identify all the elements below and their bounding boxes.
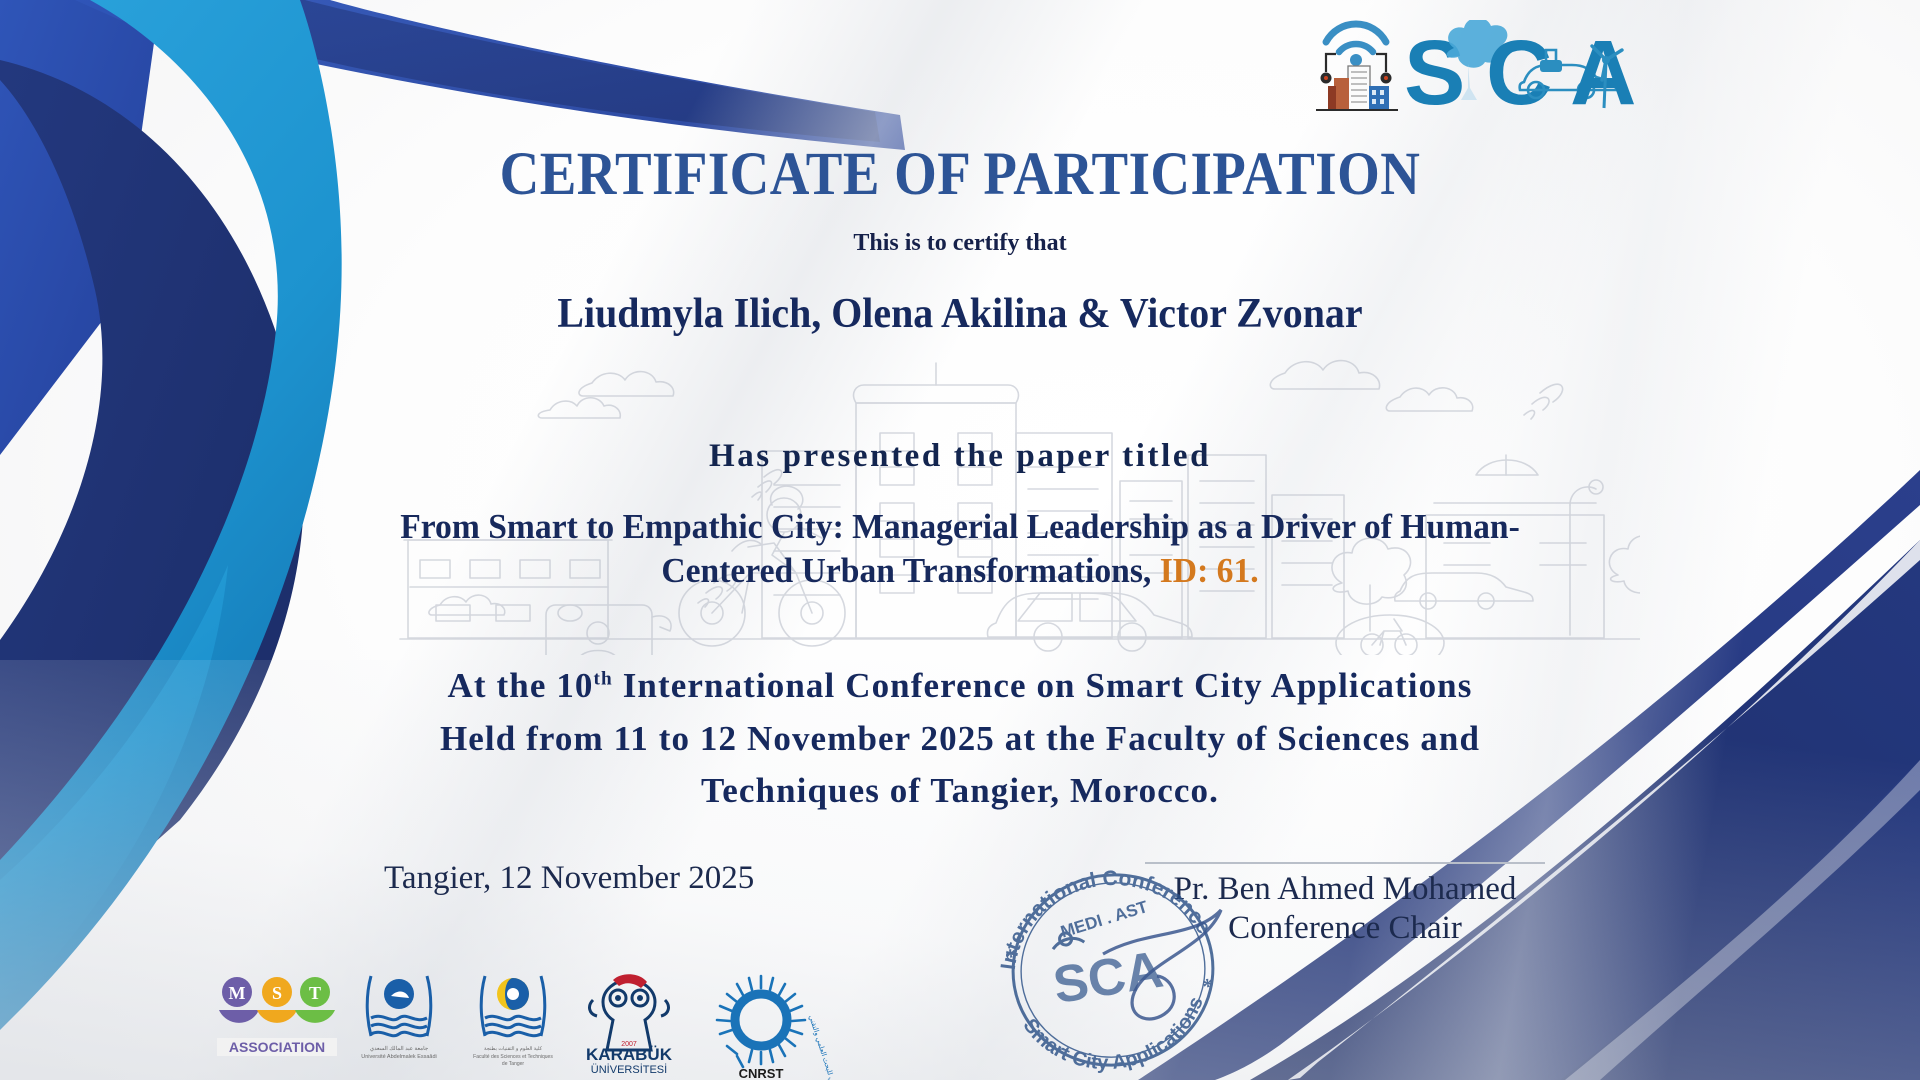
svg-text:M: M [229,983,246,1003]
mst-association-logo: M S T ASSOCIATION [217,977,337,1056]
karabuk-label: KARABÜK [586,1045,673,1064]
cnrst-label: CNRST [739,1066,784,1080]
svg-text:جامعة عبد المالك السعدي: جامعة عبد المالك السعدي [370,1045,429,1052]
svg-text:المركز الوطني للبحث العلمي وال: المركز الوطني للبحث العلمي والتقني [807,1014,848,1080]
recipient-names: Liudmyla Ilich, Olena Akilina & Victor Z… [48,290,1872,338]
faculty-of-sciences-techniques-tangier-logo: كلية العلوم و التقنيات بطنجة Faculté des… [473,976,553,1067]
ordinal-suffix: th [594,668,613,689]
certificate-page: S C A CERTIFICATE OF PARTICIPATION [0,0,1920,1080]
svg-text:de Tanger: de Tanger [502,1061,524,1067]
sca-conference-logo: S C A [1308,20,1638,116]
partner-logos: M S T ASSOCIATION جامعة عبد [215,972,905,1080]
conference-line-1-prefix: At the 10 [448,666,594,705]
svg-text:كلية العلوم و التقنيات بطنجة: كلية العلوم و التقنيات بطنجة [484,1046,543,1052]
conference-line-3: Techniques of Tangier, Morocco. [250,765,1670,818]
letter-a-with-wind-turbine: A [1570,22,1636,116]
karabuk-sublabel: ÜNİVERSİTESİ [591,1063,667,1076]
universite-abdelmalek-essaadi-logo: جامعة عبد المالك السعدي Université Abdel… [361,976,437,1060]
certificate-content: S C A CERTIFICATE OF PARTICIPATION [0,0,1920,1080]
svg-text:Faculté des Sciences et Techni: Faculté des Sciences et Techniques [473,1054,553,1060]
svg-text:Université Abdelmalek Essaâdi: Université Abdelmalek Essaâdi [361,1054,437,1060]
presented-label: Has presented the paper titled [0,438,1920,475]
svg-text:S: S [272,983,282,1003]
cnrst-logo: CNRST المركز الوطني للبحث العلمي والتقني [717,976,848,1080]
mst-association-label: ASSOCIATION [229,1039,325,1055]
paper-id: ID: 61. [1160,551,1259,590]
conference-line-1: At the 10th International Conference on … [250,660,1670,713]
smart-city-wifi-icon [1316,24,1398,110]
paper-title-text: From Smart to Empathic City: Managerial … [400,507,1520,590]
certify-line: This is to certify that [0,230,1920,257]
conference-line-2: Held from 11 to 12 November 2025 at the … [250,713,1670,766]
place-and-date: Tangier, 12 November 2025 [384,860,754,897]
paper-title: From Smart to Empathic City: Managerial … [355,505,1565,593]
conference-line-1-suffix: International Conference on Smart City A… [613,666,1473,705]
karabuk-universitesi-logo: 2007 KARABÜK ÜNİVERSİTESİ [586,974,673,1076]
conference-details: At the 10th International Conference on … [250,660,1670,818]
seal-inner-text: MEDI . AST [1058,897,1150,942]
svg-text:T: T [309,983,321,1003]
page-title: CERTIFICATE OF PARTICIPATION [96,140,1824,210]
official-conference-seal: International Conference Smart City Appl… [985,862,1240,1077]
